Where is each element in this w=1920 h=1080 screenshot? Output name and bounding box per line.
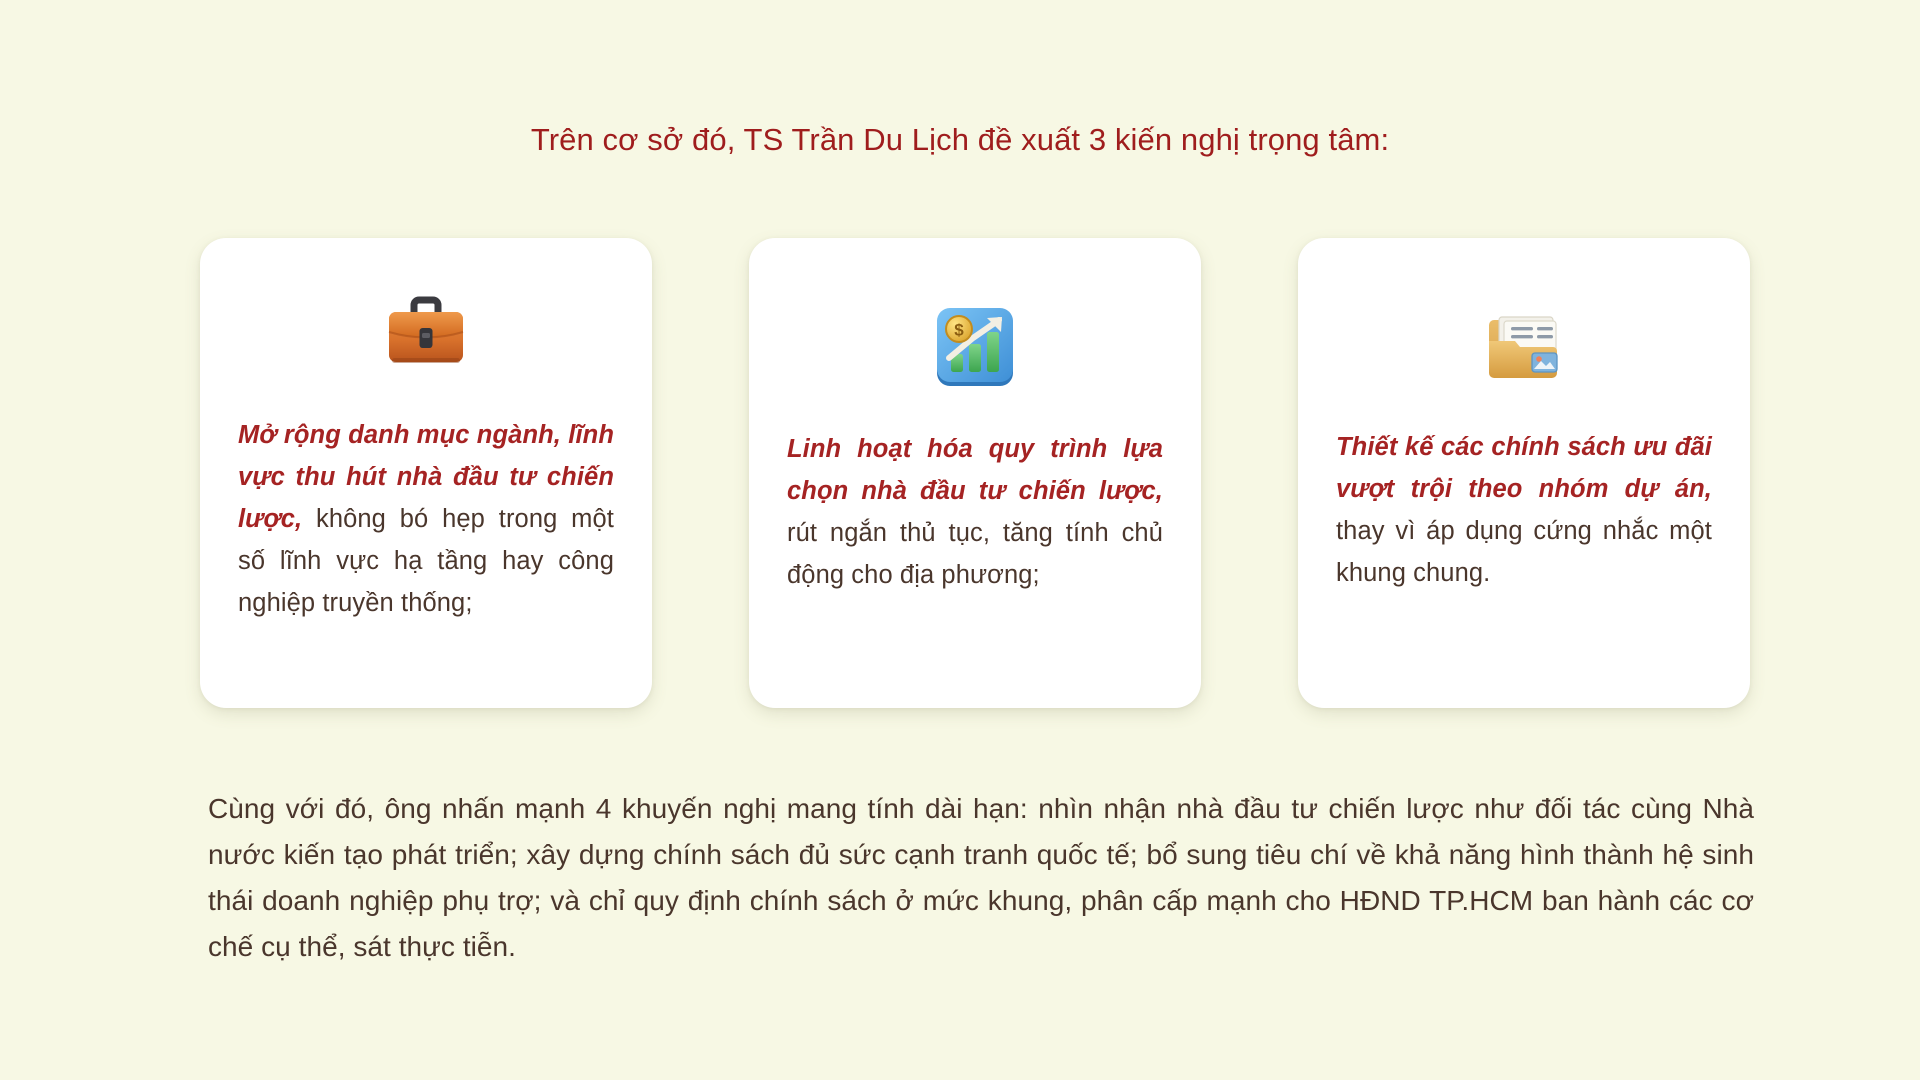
card-body-text: Thiết kế các chính sách ưu đãi vượt trội…: [1336, 426, 1712, 594]
infographic-page: Trên cơ sở đó, TS Trần Du Lịch đề xuất 3…: [0, 0, 1920, 1080]
card-body-text: Linh hoạt hóa quy trình lựa chọn nhà đầu…: [787, 428, 1163, 596]
card-body-text: Mở rộng danh mục ngành, lĩnh vực thu hút…: [238, 414, 614, 624]
recommendation-card: Mở rộng danh mục ngành, lĩnh vực thu hút…: [200, 238, 652, 708]
recommendation-card-list: Mở rộng danh mục ngành, lĩnh vực thu hút…: [200, 238, 1750, 708]
briefcase-icon: [370, 278, 482, 390]
chart-increasing-with-money-icon: $: [919, 292, 1031, 404]
card-rest-text: rút ngắn thủ tục, tăng tính chủ động cho…: [787, 519, 1163, 589]
card-rest-text: thay vì áp dụng cứng nhắc một khung chun…: [1336, 517, 1712, 587]
closing-paragraph: Cùng với đó, ông nhấn mạnh 4 khuyến nghị…: [208, 786, 1754, 970]
svg-text:$: $: [954, 321, 964, 340]
card-file-box-icon: [1468, 290, 1580, 402]
card-lead-text: Thiết kế các chính sách ưu đãi vượt trội…: [1336, 433, 1712, 503]
recommendation-card: Thiết kế các chính sách ưu đãi vượt trội…: [1298, 238, 1750, 708]
card-lead-text: Linh hoạt hóa quy trình lựa chọn nhà đầu…: [787, 435, 1163, 505]
section-heading: Trên cơ sở đó, TS Trần Du Lịch đề xuất 3…: [0, 120, 1920, 160]
recommendation-card: $ Linh hoạt hóa quy trình lựa chọn nhà đ…: [749, 238, 1201, 708]
